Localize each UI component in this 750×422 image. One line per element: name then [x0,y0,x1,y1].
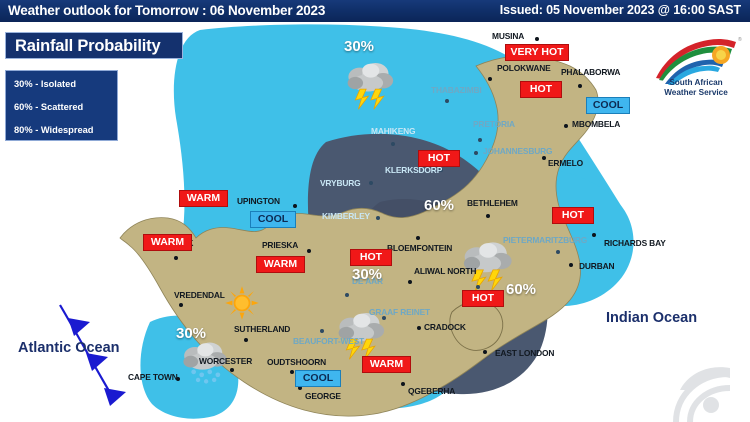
city-dot [542,156,546,160]
city-label: UPINGTON [237,196,280,206]
city-dot [445,99,449,103]
city-dot [369,181,373,185]
city-dot [179,303,183,307]
legend-item-isolated: 30% - Isolated [14,79,76,89]
temperature-badge-hot: HOT [552,207,594,224]
city-dot [230,368,234,372]
temperature-badge-hot: HOT [418,150,460,167]
header-bar: Weather outlook for Tomorrow : 06 Novemb… [0,0,750,23]
city-dot [417,326,421,330]
city-label: QGEBERHA [408,386,455,396]
probability-label: 30% [344,38,374,55]
city-dot [408,280,412,284]
city-label: DURBAN [579,261,614,271]
legend-item-scattered: 60% - Scattered [14,102,83,112]
temperature-badge-warm: WARM [143,234,192,251]
city-label: ALIWAL NORTH [414,266,476,276]
city-label: WORCESTER [199,356,252,366]
header-title: Weather outlook for Tomorrow : 06 Novemb… [8,3,325,18]
city-dot [416,236,420,240]
temperature-badge-warm: WARM [362,356,411,373]
probability-label: 30% [352,266,382,283]
weather-map-page: Weather outlook for Tomorrow : 06 Novemb… [0,0,750,422]
city-label: MUSINA [492,31,524,41]
city-label: VRYBURG [320,178,361,188]
city-label: CRADOCK [424,322,466,332]
city-dot [569,263,573,267]
city-dot [478,138,482,142]
city-label: BLOEMFONTEIN [387,243,452,253]
city-label: GRAAF REINET [369,307,430,317]
city-dot [592,233,596,237]
logo-line-2: Weather Service [648,88,744,98]
city-label: ERMELO [548,158,583,168]
city-label: EAST LONDON [495,348,554,358]
temperature-badge-hot: HOT [462,290,504,307]
header-issued: Issued: 05 November 2023 @ 16:00 SAST [500,3,741,17]
indian-ocean-label: Indian Ocean [606,310,697,326]
temperature-badge-hot: HOT [350,249,392,266]
city-label: RICHARDS BAY [604,238,666,248]
city-dot [401,382,405,386]
legend-title-box: Rainfall Probability [5,32,183,59]
svg-text:®: ® [738,36,742,43]
logo-line-1: South African [648,78,744,88]
city-dot [290,370,294,374]
probability-label: 30% [176,325,206,342]
city-label: BETHLEHEM [467,198,518,208]
city-label: POLOKWANE [497,63,551,73]
city-dot [476,285,480,289]
logo-text: South African Weather Service [648,78,744,98]
temperature-badge-cool: COOL [295,370,341,387]
city-label: PRIESKA [262,240,298,250]
temperature-badge-cool: COOL [250,211,296,228]
city-dot [376,216,380,220]
city-dot [556,250,560,254]
city-label: PHALABORWA [561,67,620,77]
legend-title-text: Rainfall Probability [15,37,160,56]
legend-item-widespread: 80% - Widespread [14,125,93,135]
city-label: VREDENDAL [174,290,225,300]
city-label: OUDTSHOORN [267,357,326,367]
city-label: PRETORIA [473,119,515,129]
legend-items-box: 30% - Isolated 60% - Scattered 80% - Wid… [5,70,118,141]
city-dot [320,329,324,333]
city-dot [483,350,487,354]
probability-label: 60% [424,197,454,214]
city-label: BEAUFORT-WEST [293,336,364,346]
city-dot [488,77,492,81]
city-dot [578,84,582,88]
city-label: THABAZIMBI [431,85,482,95]
city-dot [345,293,349,297]
atlantic-ocean-label: Atlantic Ocean [18,340,120,356]
city-label: SUTHERLAND [234,324,290,334]
city-dot [174,256,178,260]
city-dot [391,142,395,146]
thunderstorm-icon [343,55,397,111]
temperature-badge-warm: WARM [179,190,228,207]
city-dot [244,338,248,342]
city-label: JOHANNESBURG [483,146,552,156]
temperature-badge-warm: WARM [256,256,305,273]
city-label: GEORGE [305,391,341,401]
temperature-badge-hot: HOT [520,81,562,98]
temperature-badge-cool: COOL [586,97,630,114]
temperature-badge-very-hot: VERY HOT [505,44,569,61]
city-label: CAPE TOWN [128,372,178,382]
probability-label: 60% [506,281,536,298]
city-dot [486,214,490,218]
city-label: MAHIKENG [371,126,415,136]
city-dot [564,124,568,128]
city-dot [535,37,539,41]
city-label: KIMBERLEY [322,211,370,221]
city-dot [307,249,311,253]
city-dot [293,204,297,208]
sun-icon [224,285,260,321]
city-label: MBOMBELA [572,119,620,129]
city-dot [474,151,478,155]
city-label: PIETERMARITZBURG [503,235,587,245]
